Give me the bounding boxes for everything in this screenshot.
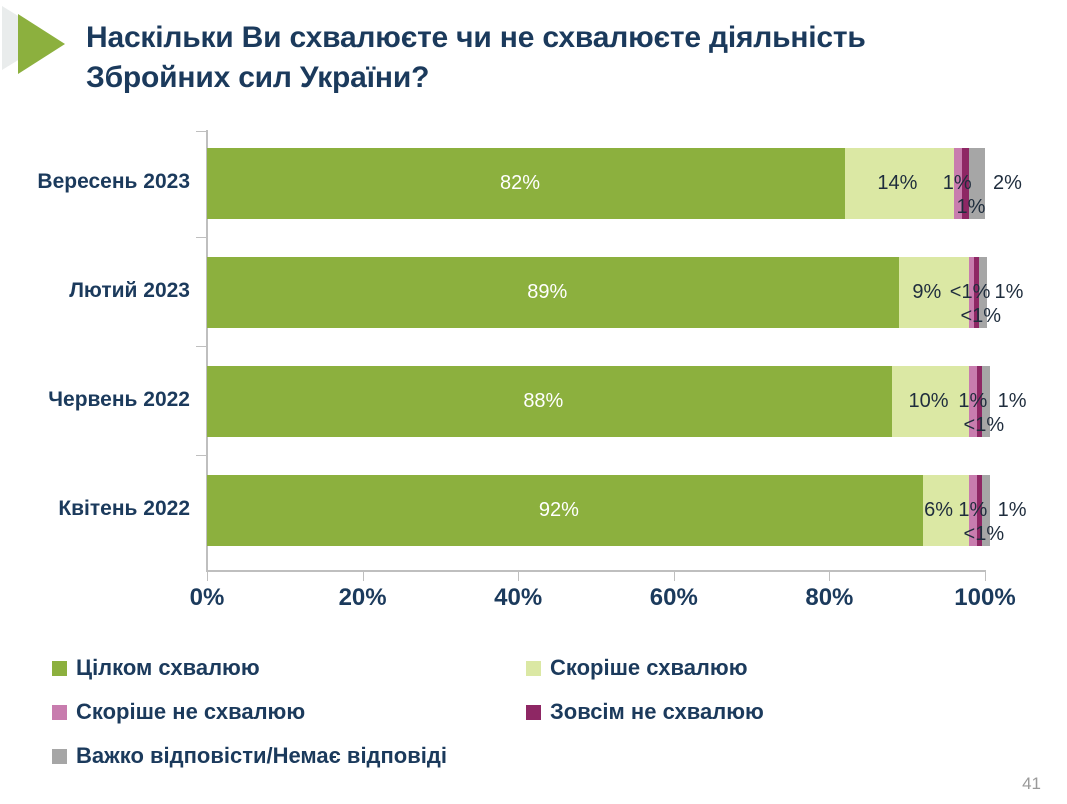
arrow-triangle-icon [18, 14, 65, 74]
x-axis-tick [363, 572, 364, 581]
decorative-play-arrow [0, 0, 90, 100]
segment-value-label: <1% [960, 305, 1001, 328]
x-axis-tick-label: 0% [152, 584, 262, 612]
stacked-bar-chart: Вересень 2023Лютий 2023Червень 2022Квіте… [0, 118, 1067, 618]
segment-value-label: 9% [912, 281, 941, 304]
segment-value-label: 1% [943, 172, 972, 195]
chart-legend: Цілком схвалююСкоріше схвалююСкоріше не … [52, 655, 1012, 787]
segment-value-label: 6% [924, 499, 953, 522]
legend-item[interactable]: Скоріше схвалюю [526, 655, 747, 681]
page-title: Наскільки Ви схвалюєте чи не схвалюєте д… [86, 18, 1016, 97]
segment-value-label: 1% [998, 499, 1027, 522]
legend-swatch-icon [526, 705, 541, 720]
legend-swatch-icon [52, 749, 67, 764]
legend-row: Скоріше не схвалююЗовсім не схвалюю [52, 699, 1012, 743]
bar-row [207, 257, 985, 328]
x-axis-tick-label: 60% [619, 584, 729, 612]
legend-item[interactable]: Зовсім не схвалюю [526, 699, 764, 725]
x-axis-tick-label: 40% [463, 584, 573, 612]
segment-value-label: 1% [995, 281, 1024, 304]
legend-label: Зовсім не схвалюю [550, 699, 764, 725]
x-axis-tick-label: 20% [308, 584, 418, 612]
y-axis-tick [196, 237, 206, 238]
segment-value-label: 1% [957, 196, 986, 219]
legend-label: Скоріше не схвалюю [76, 699, 305, 725]
y-axis-category-label: Лютий 2023 [0, 279, 190, 303]
y-axis-category-label: Червень 2022 [0, 388, 190, 412]
x-axis-tick [985, 572, 986, 581]
segment-value-label: 14% [877, 172, 917, 195]
x-axis-line [206, 570, 986, 572]
legend-item[interactable]: Скоріше не схвалюю [52, 699, 305, 725]
legend-row: Цілком схвалююСкоріше схвалюю [52, 655, 1012, 699]
legend-label: Важко відповісти/Немає відповіді [76, 743, 447, 769]
y-axis-tick [196, 131, 206, 132]
x-axis-tick [207, 572, 208, 581]
legend-swatch-icon [526, 661, 541, 676]
bar-row [207, 148, 985, 219]
bar-row [207, 475, 985, 546]
plot-area: 82%14%1%2%1%89%9%<1%1%<1%88%10%1%1%<1%92… [207, 130, 985, 570]
x-axis-tick [674, 572, 675, 581]
segment-value-label: 1% [998, 390, 1027, 413]
segment-value-label: 88% [523, 390, 563, 413]
x-axis-tick [518, 572, 519, 581]
segment-value-label: 10% [909, 390, 949, 413]
segment-value-label: 1% [958, 499, 987, 522]
bar-row [207, 366, 985, 437]
y-axis-category-label: Квітень 2022 [0, 497, 190, 521]
y-axis-tick [196, 346, 206, 347]
segment-value-label: 92% [539, 499, 579, 522]
segment-value-label: <1% [950, 281, 991, 304]
y-axis-tick [196, 455, 206, 456]
segment-value-label: 1% [958, 390, 987, 413]
segment-value-label: <1% [964, 523, 1005, 546]
legend-item[interactable]: Цілком схвалюю [52, 655, 260, 681]
y-axis-category-label: Вересень 2023 [0, 170, 190, 194]
legend-label: Цілком схвалюю [76, 655, 260, 681]
segment-value-label: 89% [527, 281, 567, 304]
segment-value-label: <1% [964, 414, 1005, 437]
segment-value-label: 82% [500, 172, 540, 195]
legend-swatch-icon [52, 705, 67, 720]
x-axis-tick-label: 80% [774, 584, 884, 612]
x-axis-tick [829, 572, 830, 581]
legend-row: Важко відповісти/Немає відповіді [52, 743, 1012, 787]
segment-value-label: 2% [993, 172, 1022, 195]
legend-swatch-icon [52, 661, 67, 676]
legend-item[interactable]: Важко відповісти/Немає відповіді [52, 743, 447, 769]
legend-label: Скоріше схвалюю [550, 655, 747, 681]
x-axis-tick-label: 100% [930, 584, 1040, 612]
page-number: 41 [1022, 774, 1041, 794]
